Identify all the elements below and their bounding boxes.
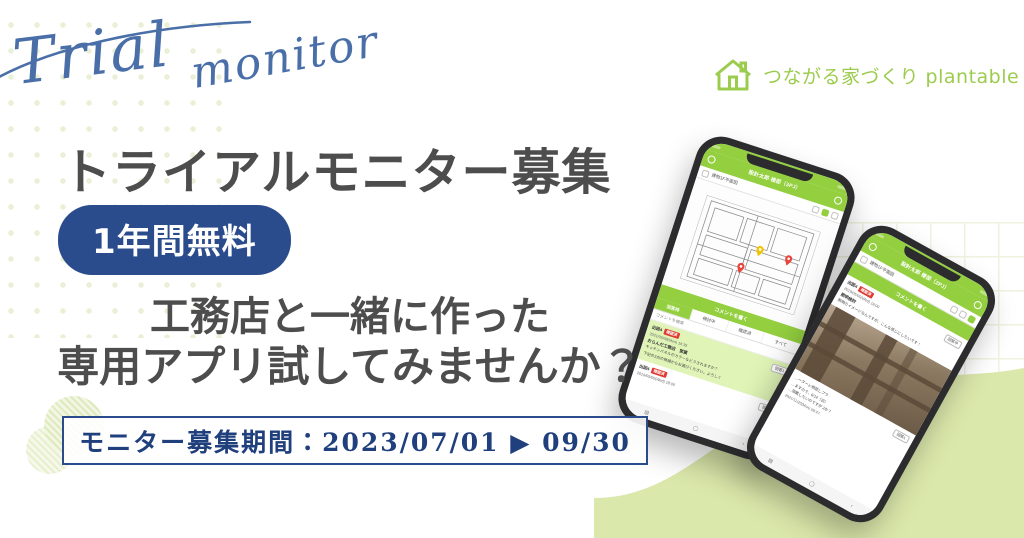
nav-home-icon[interactable]: ◯ [808, 480, 816, 488]
nav-back-icon[interactable]: ‹ [742, 441, 745, 447]
edit-icon[interactable] [811, 205, 820, 214]
application-period-text: モニター募集期間：2023/07/01 ▶ 09/30 [79, 423, 631, 459]
nav-back-icon[interactable]: ‹ [850, 503, 854, 509]
menu-icon[interactable] [707, 154, 717, 164]
menu-icon[interactable] [867, 242, 878, 253]
refresh-icon[interactable] [833, 196, 843, 206]
nav-recents-icon[interactable]: ▤ [644, 409, 650, 416]
brand-logo[interactable]: つながる家づくり plantable [712, 56, 1019, 94]
phone-b-navbar: ▤ ◯ ‹ [747, 444, 874, 522]
promo-banner: Trial monitor トライアルモニター募集 1年間無料 工務店と一緒に作… [0, 0, 1024, 538]
free-year-badge: 1年間無料 [58, 205, 291, 275]
nav-recents-icon[interactable]: ▤ [767, 457, 774, 465]
script-heading: Trial monitor [0, 6, 420, 134]
brand-logo-text: つながる家づくり plantable [763, 62, 1019, 89]
pin-tool-icon[interactable] [821, 208, 830, 217]
more-icon[interactable] [830, 211, 839, 220]
more-icon[interactable] [958, 309, 968, 319]
subheading-line-1: 工務店と一緒に作った [0, 294, 700, 340]
subheading-line-2: 専用アプリ試してみませんか？ [0, 342, 700, 392]
layers-icon[interactable] [859, 255, 869, 265]
subheading: 工務店と一緒に作った 専用アプリ試してみませんか？ [0, 294, 700, 392]
house-icon [712, 56, 754, 94]
layers-icon[interactable] [701, 169, 710, 178]
application-period-box: モニター募集期間：2023/07/01 ▶ 09/30 [62, 416, 648, 465]
pin-tool-icon[interactable] [967, 314, 977, 324]
page-title: トライアルモニター募集 [62, 133, 612, 204]
nav-home-icon[interactable]: ◯ [692, 425, 699, 432]
refresh-icon[interactable] [972, 300, 983, 311]
edit-icon[interactable] [950, 305, 960, 315]
